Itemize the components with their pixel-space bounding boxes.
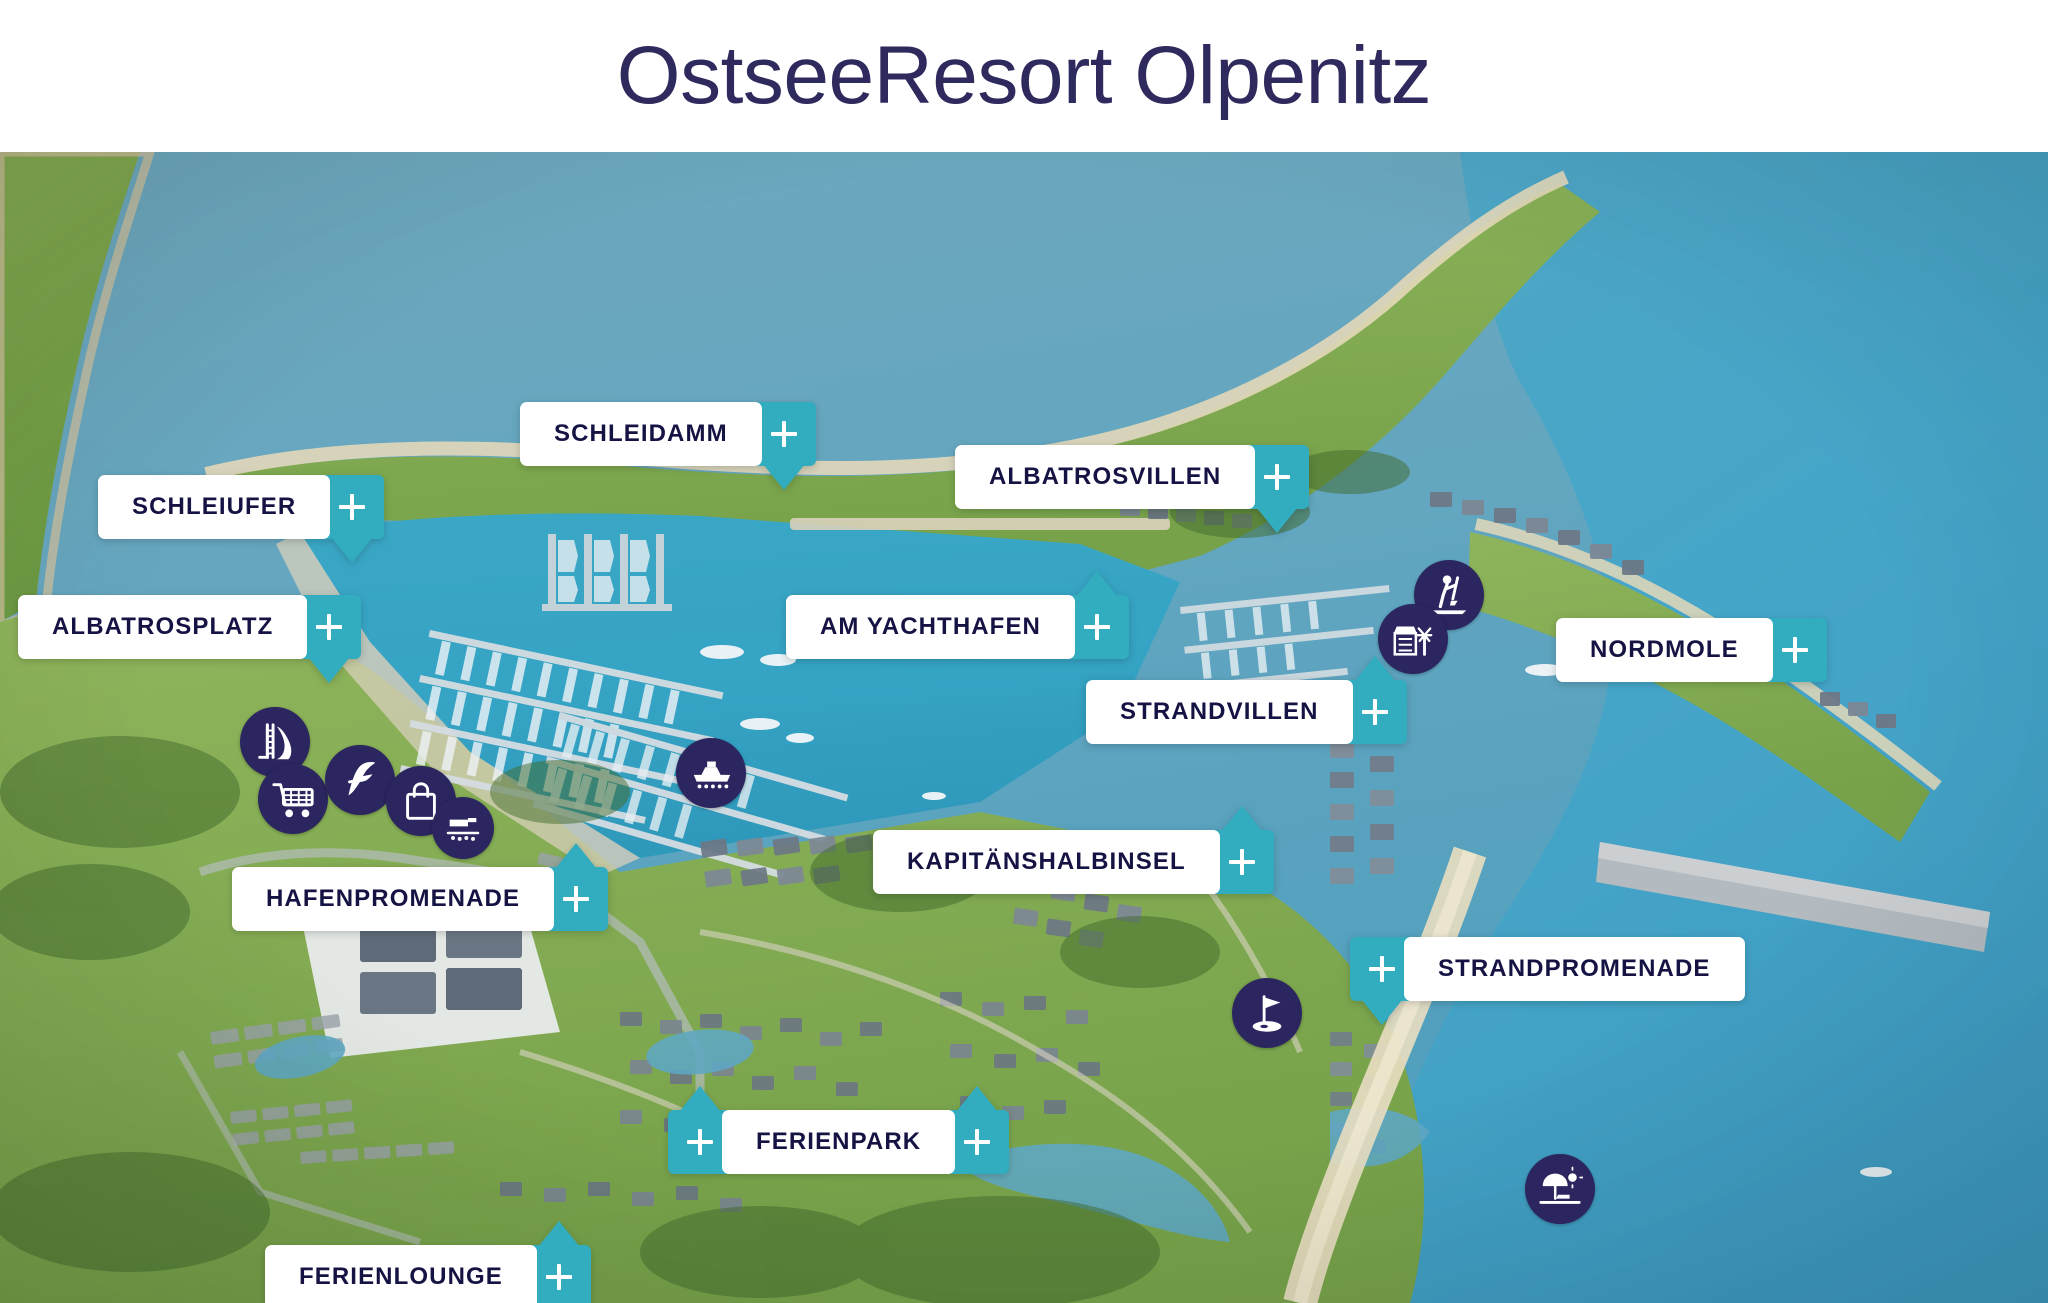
- hotspot-label-box: FERIENLOUNGE: [265, 1245, 537, 1303]
- hotspot-label: FERIENLOUNGE: [299, 1265, 503, 1289]
- pointer-up-icon: [555, 843, 597, 869]
- hotspot-label-box: KAPITÄNSHALBINSEL: [873, 830, 1220, 894]
- pointer-up-icon: [1221, 806, 1263, 832]
- hotspot-label-box: NORDMOLE: [1556, 618, 1773, 682]
- pointer-down-icon: [331, 537, 373, 563]
- hotspot-label: NORDMOLE: [1590, 638, 1739, 662]
- beach-umbrella-icon[interactable]: [1525, 1154, 1595, 1224]
- pointer-down-icon: [763, 464, 805, 490]
- pointer-up-icon: [679, 1086, 721, 1112]
- shopping-cart-icon[interactable]: [258, 764, 328, 834]
- hotspot-albatrosplatz[interactable]: ALBATROSPLATZ: [18, 595, 361, 659]
- pointer-down-icon: [1361, 999, 1403, 1025]
- pointer-up-icon: [956, 1086, 998, 1112]
- hotspot-nordmole[interactable]: NORDMOLE: [1556, 618, 1827, 682]
- hotspot-schleidamm[interactable]: SCHLEIDAMM: [520, 402, 816, 466]
- hotspot-label: STRANDVILLEN: [1120, 700, 1319, 724]
- hotspot-label-box: ALBATROSVILLEN: [955, 445, 1255, 509]
- page-title: OstseeResort Olpenitz: [617, 35, 1431, 117]
- hotspot-label-box: ALBATROSPLATZ: [18, 595, 307, 659]
- hotspot-label-box: FERIENPARK: [722, 1110, 955, 1174]
- hotspot-label: ALBATROSVILLEN: [989, 465, 1221, 489]
- resort-map[interactable]: SCHLEIDAMM SCHLEIUFER ALBATROSVILLEN: [0, 152, 2048, 1303]
- hotspot-schleiufer[interactable]: SCHLEIUFER: [98, 475, 384, 539]
- hotspot-label-box: SCHLEIDAMM: [520, 402, 762, 466]
- hotspot-hafenpromenade[interactable]: HAFENPROMENADE: [232, 867, 608, 931]
- pointer-up-icon: [1076, 571, 1118, 597]
- boat-ramp-icon[interactable]: [432, 797, 494, 859]
- hotspot-strandpromenade[interactable]: STRANDPROMENADE: [1350, 937, 1745, 1001]
- pointer-up-icon: [538, 1221, 580, 1247]
- hotspot-label: HAFENPROMENADE: [266, 887, 520, 911]
- hotspot-label: AM YACHTHAFEN: [820, 615, 1041, 639]
- pointer-down-icon: [308, 657, 350, 683]
- hotspot-label: ALBATROSPLATZ: [52, 615, 273, 639]
- hotspot-label-box: STRANDPROMENADE: [1404, 937, 1745, 1001]
- hotspot-label-box: SCHLEIUFER: [98, 475, 330, 539]
- hotspot-albatrosvillen[interactable]: ALBATROSVILLEN: [955, 445, 1309, 509]
- golf-flag-icon[interactable]: [1232, 978, 1302, 1048]
- hotspot-label: SCHLEIDAMM: [554, 422, 728, 446]
- hotspot-label: SCHLEIUFER: [132, 495, 296, 519]
- page-root: OstseeResort Olpenitz: [0, 0, 2048, 1303]
- title-bar: OstseeResort Olpenitz: [0, 0, 2048, 152]
- hotspot-ferienlounge[interactable]: FERIENLOUNGE: [265, 1245, 591, 1303]
- hotspot-ferienpark[interactable]: FERIENPARK: [668, 1110, 1009, 1174]
- motor-yacht-icon[interactable]: [676, 738, 746, 808]
- pointer-up-icon: [1354, 656, 1396, 682]
- hotspot-label-box: STRANDVILLEN: [1086, 680, 1353, 744]
- hotspot-label-box: AM YACHTHAFEN: [786, 595, 1075, 659]
- pointer-down-icon: [1256, 507, 1298, 533]
- hotspot-label: FERIENPARK: [756, 1130, 921, 1154]
- hotspot-label-box: HAFENPROMENADE: [232, 867, 554, 931]
- hotspot-am-yachthafen[interactable]: AM YACHTHAFEN: [786, 595, 1129, 659]
- hotspot-strandvillen[interactable]: STRANDVILLEN: [1086, 680, 1407, 744]
- hotspot-kapitaenshalbinsel[interactable]: KAPITÄNSHALBINSEL: [873, 830, 1274, 894]
- hotspot-label: STRANDPROMENADE: [1438, 957, 1711, 981]
- f-monogram-icon[interactable]: [325, 745, 395, 815]
- hotspot-label: KAPITÄNSHALBINSEL: [907, 850, 1186, 874]
